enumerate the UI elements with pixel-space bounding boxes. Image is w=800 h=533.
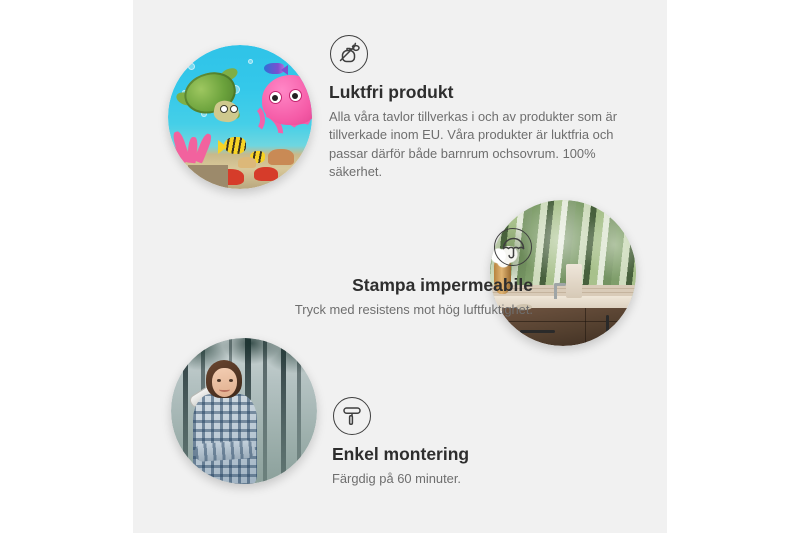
feature-odour-free: Luktfri produkt Alla våra tavlor tillver…	[329, 35, 629, 181]
woman-eye	[229, 379, 233, 382]
woman-smile	[219, 387, 230, 392]
photo-underwater-cartoon-mural[interactable]	[168, 45, 312, 189]
photo-painter-forest-mural[interactable]	[171, 338, 317, 484]
drawer-handle-icon	[520, 330, 555, 333]
rock-icon	[268, 149, 294, 165]
crab-icon	[254, 167, 278, 181]
umbrella-icon	[494, 228, 532, 266]
rock-icon	[238, 157, 256, 168]
photo-painter-forest-mural-image	[171, 338, 317, 484]
yellow-fish-icon	[224, 137, 246, 154]
turtle-eye-icon	[220, 105, 228, 113]
content-panel: Luktfri produkt Alla våra tavlor tillver…	[133, 0, 667, 533]
bubble-icon	[188, 63, 195, 70]
feature-title: Stampa impermeabile	[203, 275, 533, 296]
feature-title: Luktfri produkt	[329, 82, 629, 103]
plaid-shirt	[193, 394, 257, 484]
cabinet-handle-icon	[606, 315, 609, 332]
feature-waterproof-print: Stampa impermeabile Tryck med resistens …	[203, 228, 533, 319]
octopus-pupil-icon	[292, 93, 298, 99]
feature-title: Enkel montering	[332, 444, 632, 465]
octopus-pupil-icon	[272, 95, 278, 101]
woman-face	[212, 368, 237, 397]
bubble-icon	[248, 59, 253, 64]
feature-body: Tryck med resistens mot hög luftfuktighe…	[203, 301, 533, 319]
feature-easy-assembly: Enkel montering Färgdig på 60 minuter.	[332, 397, 632, 488]
woman-eye	[217, 379, 221, 382]
blue-fish-tail-icon	[281, 65, 288, 75]
paint-roller-icon	[333, 397, 371, 435]
faucet-icon	[554, 285, 557, 299]
photo-underwater-cartoon-mural-image	[168, 45, 312, 189]
seabed-icon	[188, 165, 228, 189]
vanity-seam	[585, 308, 587, 346]
no-odour-perfume-bottle-icon	[330, 35, 368, 73]
feature-body: Alla våra tavlor tillverkas i och av pro…	[329, 108, 629, 181]
vanity-seam	[502, 321, 636, 323]
towel	[566, 264, 582, 298]
turtle-eye-icon	[230, 105, 238, 113]
yellow-fish-tail-icon	[218, 140, 227, 154]
forest-canopy	[171, 338, 317, 402]
faucet-spout-icon	[554, 283, 566, 286]
feature-body: Färgdig på 60 minuter.	[332, 470, 632, 488]
screenshot-root: Luktfri produkt Alla våra tavlor tillver…	[0, 0, 800, 533]
